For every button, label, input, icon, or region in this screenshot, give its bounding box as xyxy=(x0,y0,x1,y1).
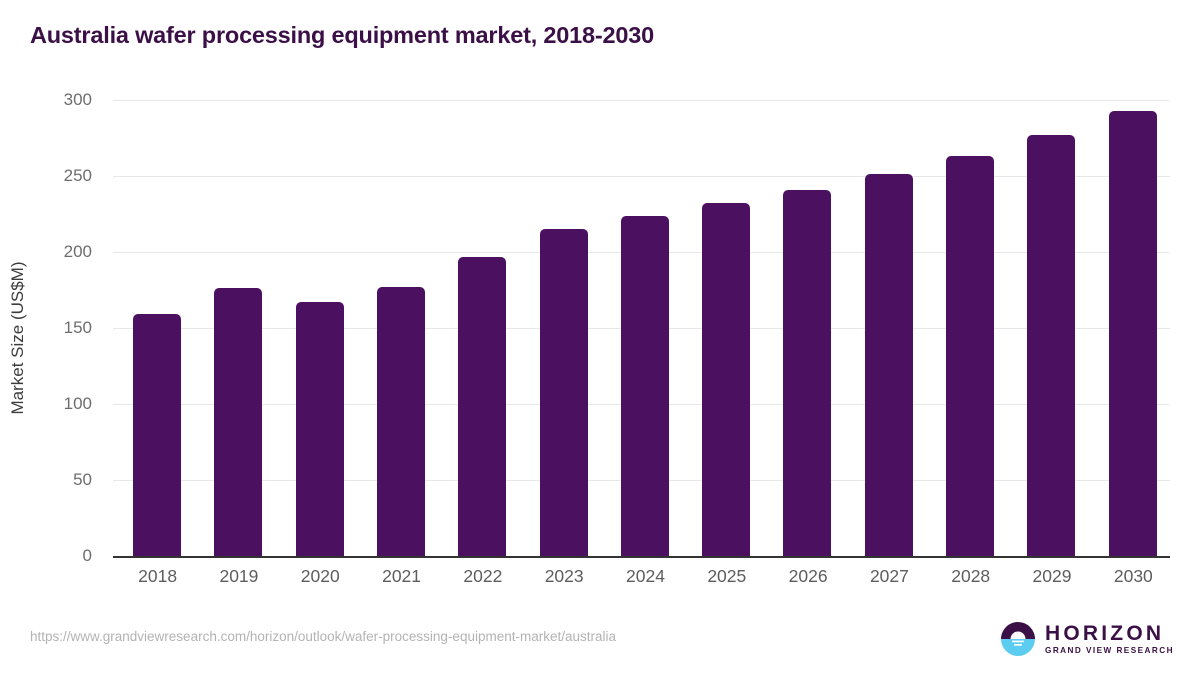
bar-slot xyxy=(442,100,523,556)
x-axis-tick-label-2018: 2018 xyxy=(117,566,198,587)
x-axis-tick-label-2027: 2027 xyxy=(849,566,930,587)
source-url[interactable]: https://www.grandviewresearch.com/horizo… xyxy=(30,629,616,644)
bar-2025[interactable] xyxy=(702,203,750,556)
bar-2030[interactable] xyxy=(1109,111,1157,556)
bar-2028[interactable] xyxy=(946,156,994,556)
x-axis-tick-label-2020: 2020 xyxy=(280,566,361,587)
bar-slot xyxy=(686,100,767,556)
bar-slot xyxy=(1011,100,1092,556)
bar-slot xyxy=(849,100,930,556)
bar-slot xyxy=(117,100,198,556)
logo-wordmark: HORIZON xyxy=(1045,623,1174,644)
bar-2020[interactable] xyxy=(296,302,344,556)
bar-2018[interactable] xyxy=(133,314,181,556)
x-axis-tick-label-2028: 2028 xyxy=(930,566,1011,587)
bar-slot xyxy=(930,100,1011,556)
chart-canvas: Australia wafer processing equipment mar… xyxy=(0,0,1200,675)
horizon-logo-icon xyxy=(1000,621,1036,657)
bar-slot xyxy=(280,100,361,556)
bar-2026[interactable] xyxy=(783,190,831,556)
logo-tagline: GRAND VIEW RESEARCH xyxy=(1045,647,1174,655)
y-axis-tick-label: 200 xyxy=(32,242,92,262)
chart-plot: 050100150200250300 Market Size (US$M) 20… xyxy=(0,0,1200,675)
brand-logo: HORIZON GRAND VIEW RESEARCH xyxy=(1000,620,1174,658)
x-axis-tick-label-2030: 2030 xyxy=(1093,566,1174,587)
bar-2022[interactable] xyxy=(458,257,506,556)
bar-2023[interactable] xyxy=(540,229,588,556)
x-axis-tick-label-2022: 2022 xyxy=(442,566,523,587)
bar-slot xyxy=(605,100,686,556)
y-axis-tick-label: 250 xyxy=(32,166,92,186)
y-axis-tick-label: 150 xyxy=(32,318,92,338)
bar-slot xyxy=(361,100,442,556)
y-axis-tick-label: 0 xyxy=(32,546,92,566)
bar-2024[interactable] xyxy=(621,216,669,556)
y-axis-tick-label: 100 xyxy=(32,394,92,414)
bar-2019[interactable] xyxy=(214,288,262,556)
bar-2027[interactable] xyxy=(865,174,913,556)
y-axis-title: Market Size (US$M) xyxy=(8,188,28,488)
x-axis-tick-label-2019: 2019 xyxy=(198,566,279,587)
bar-slot xyxy=(198,100,279,556)
bar-slot xyxy=(767,100,848,556)
bar-2021[interactable] xyxy=(377,287,425,556)
x-axis-tick-label-2024: 2024 xyxy=(605,566,686,587)
y-axis-tick-label: 300 xyxy=(32,90,92,110)
bar-slot xyxy=(524,100,605,556)
x-axis-tick-label-2023: 2023 xyxy=(524,566,605,587)
x-axis-tick-label-2029: 2029 xyxy=(1011,566,1092,587)
x-axis-tick-label-2026: 2026 xyxy=(767,566,848,587)
logo-text: HORIZON GRAND VIEW RESEARCH xyxy=(1045,623,1174,655)
bar-slot xyxy=(1093,100,1174,556)
y-axis-tick-label: 50 xyxy=(32,470,92,490)
bar-2029[interactable] xyxy=(1027,135,1075,556)
bar-series xyxy=(113,100,1170,556)
x-axis-line xyxy=(113,556,1170,558)
x-axis-tick-label-2025: 2025 xyxy=(686,566,767,587)
x-axis-tick-label-2021: 2021 xyxy=(361,566,442,587)
